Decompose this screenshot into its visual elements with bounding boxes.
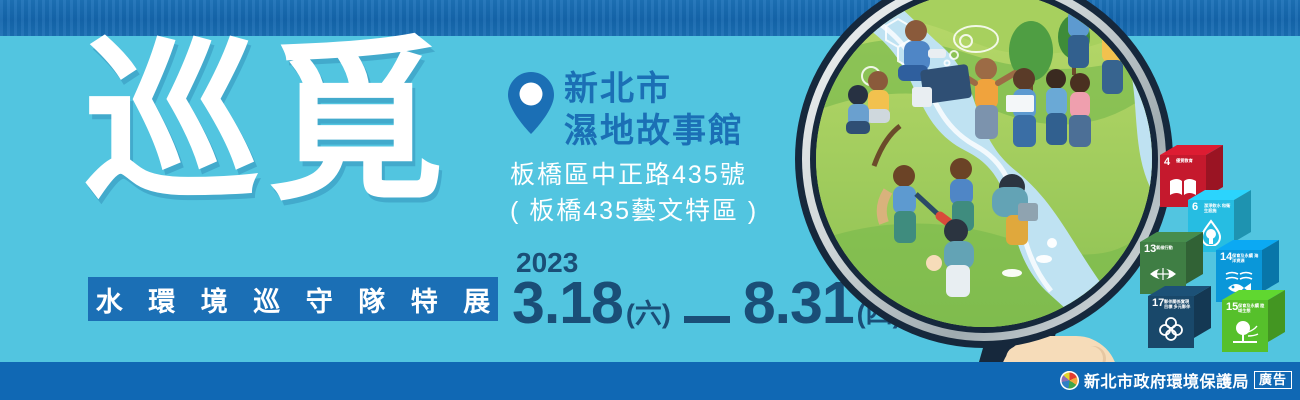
magnifier-lens-scene [816,0,1152,327]
subtitle-banner: 水 環 境 巡 守 隊 特 展 [88,277,498,321]
date-range-dash [684,316,730,323]
sdg-label: 氣候行動 [1156,245,1184,250]
sdg-label: 保育及永續 陸域生態 [1238,303,1266,313]
date-start-weekday: (六) [626,299,671,329]
magnifying-glass-illustration [795,0,1173,348]
sdg-label: 優質教育 [1176,158,1204,163]
sdg-number: 17 [1152,298,1164,309]
subtitle-text: 水 環 境 巡 守 隊 特 展 [87,280,500,319]
tree-icon [1230,318,1260,346]
venue-address-line1: 板橋區中正路435號 [510,160,747,190]
circles-icon [1156,314,1186,342]
sdg-label: 保育及永續 海洋資源 [1232,253,1260,263]
sdg-number: 4 [1164,157,1170,168]
sdg-number: 13 [1144,244,1156,255]
venue-name: 新北市 濕地故事館 [564,68,744,152]
venue-city: 新北市 [564,68,744,110]
venue-hall: 濕地故事館 [564,110,744,152]
venue-address-line2: ( 板橋435藝文特區 ) [510,196,758,226]
ad-badge: 廣告 [1254,371,1292,389]
date-start: 3.18 [512,273,623,333]
map-pin-icon [508,72,554,134]
sdg-label: 夥伴關係實現目標 多元夥伴 [1164,299,1192,309]
sdg-number: 6 [1192,202,1198,213]
footer-credit: 新北市政府環境保護局 廣告 [1060,368,1292,392]
page-title: 巡覓 [84,34,504,264]
epa-emblem-icon [1060,371,1079,390]
event-banner: 巡覓 水 環 境 巡 守 隊 特 展 新北市 濕地故事館 板橋區中正路435號 … [0,0,1300,400]
sdg-label: 潔淨飲水 和衛生設施 [1204,203,1232,213]
sdg-number: 14 [1220,252,1232,263]
eye-globe-icon [1148,260,1178,288]
organization-name: 新北市政府環境保護局 [1084,368,1249,392]
sdg-number: 15 [1226,302,1238,313]
